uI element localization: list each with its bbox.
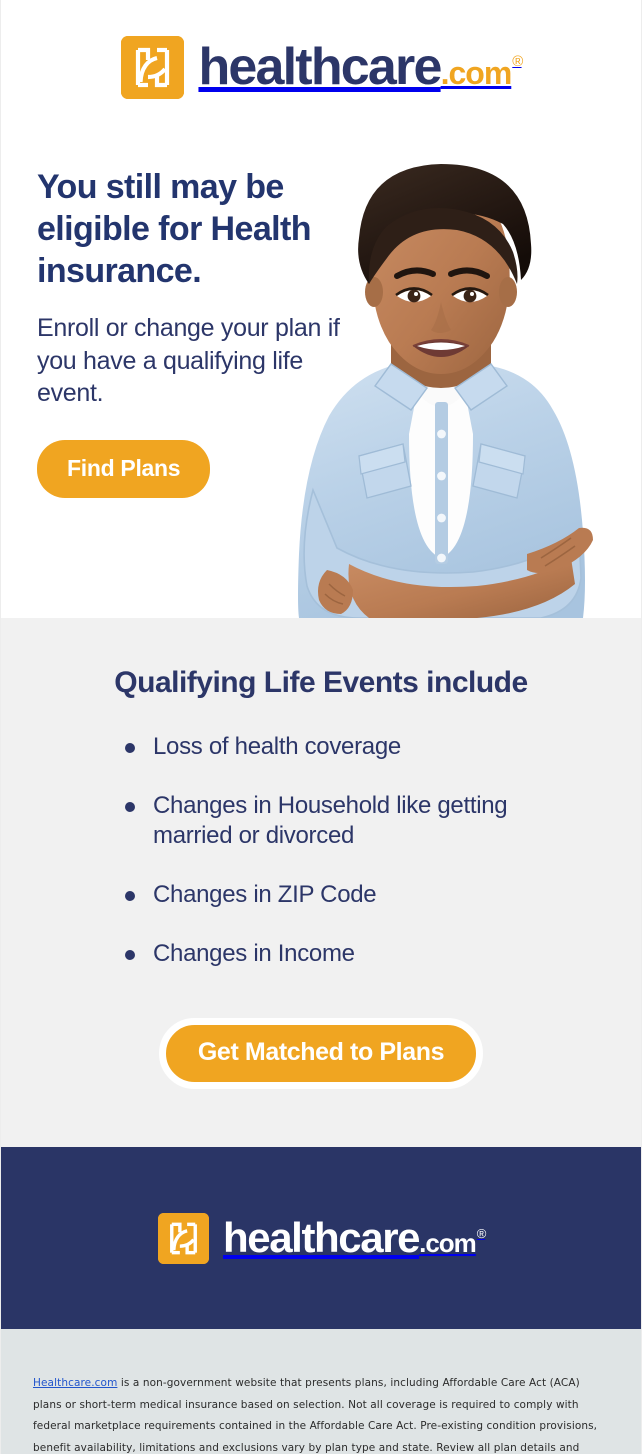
email-header: healthcare.com® <box>1 0 641 134</box>
hero-headline: You still may be eligible for Health ins… <box>37 166 367 292</box>
list-item: Changes in Income <box>121 939 521 970</box>
find-plans-button[interactable]: Find Plans <box>37 440 210 498</box>
logo-word-main: healthcare <box>198 41 440 93</box>
bullet-icon <box>125 891 135 901</box>
hero-subheadline: Enroll or change your plan if you have a… <box>37 312 367 410</box>
footer-logo-wordmark: healthcare.com® <box>223 1217 484 1259</box>
healthcare-h-mark-icon <box>158 1213 209 1264</box>
header-logo[interactable]: healthcare.com® <box>121 36 520 99</box>
list-item-label: Changes in Household like getting marrie… <box>153 792 507 850</box>
registered-trademark-icon: ® <box>512 54 521 69</box>
bullet-icon <box>125 802 135 812</box>
qle-cta-wrapper: Get Matched to Plans <box>1 1018 641 1090</box>
qle-list: Loss of health coverage Changes in House… <box>121 732 521 970</box>
list-item-label: Loss of health coverage <box>153 733 401 760</box>
healthcare-com-link[interactable]: Healthcare.com <box>33 1377 117 1389</box>
bullet-icon <box>125 743 135 753</box>
hero-section: You still may be eligible for Health ins… <box>1 134 641 618</box>
bullet-icon <box>125 950 135 960</box>
get-matched-to-plans-button[interactable]: Get Matched to Plans <box>159 1018 483 1090</box>
list-item: Changes in ZIP Code <box>121 880 521 911</box>
list-item: Loss of health coverage <box>121 732 521 763</box>
footer-logo-main: healthcare <box>223 1217 419 1259</box>
disclaimer-body: is a non-government website that present… <box>33 1377 597 1454</box>
footer-logo[interactable]: healthcare.com® <box>158 1213 484 1264</box>
qle-heading: Qualifying Life Events include <box>1 666 641 700</box>
list-item: Changes in Household like getting marrie… <box>121 791 521 852</box>
header-logo-wordmark: healthcare.com® <box>198 41 520 93</box>
list-item-label: Changes in ZIP Code <box>153 881 376 908</box>
qualifying-life-events-section: Qualifying Life Events include Loss of h… <box>1 618 641 1147</box>
email-body: healthcare.com® <box>0 0 642 1454</box>
healthcare-h-mark-icon <box>121 36 184 99</box>
hero-copy: You still may be eligible for Health ins… <box>37 166 367 498</box>
footer-logo-tld: .com <box>419 1230 476 1256</box>
disclaimer-text: Healthcare.com is a non-government websi… <box>33 1373 609 1454</box>
legal-disclaimer-section: Healthcare.com is a non-government websi… <box>1 1329 641 1454</box>
list-item-label: Changes in Income <box>153 940 355 967</box>
registered-trademark-icon: ® <box>477 1227 485 1240</box>
logo-word-tld: .com <box>441 57 512 89</box>
footer-brand-bar: healthcare.com® <box>1 1147 641 1329</box>
